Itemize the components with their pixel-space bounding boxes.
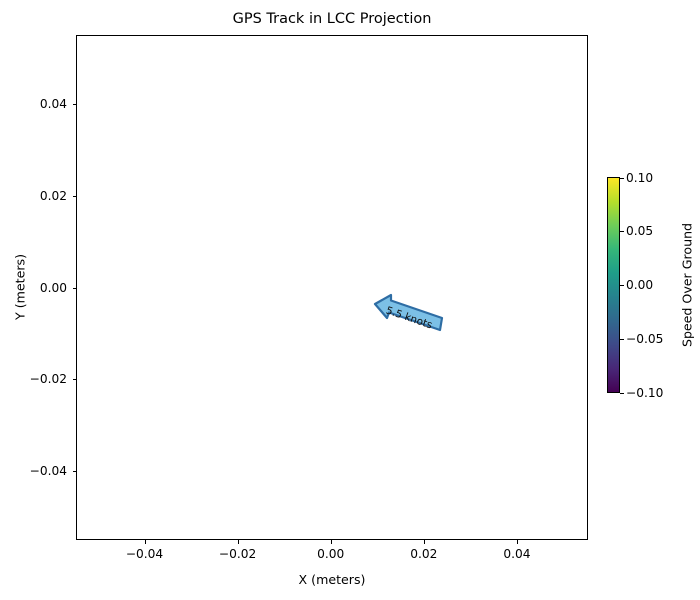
colorbar-tick-mark	[620, 285, 624, 286]
x-tick-mark	[238, 540, 239, 544]
chart-title: GPS Track in LCC Projection	[76, 11, 588, 27]
y-tick-label-text: 0.02	[40, 189, 67, 203]
y-tick-label-text: −0.02	[30, 372, 67, 386]
x-tick-label: 0.00	[317, 547, 344, 561]
x-axis-label: X (meters)	[76, 572, 588, 587]
colorbar-tick-mark	[620, 231, 624, 232]
colorbar-tick-label: −0.10	[626, 386, 663, 400]
colorbar-label: Speed Over Ground	[680, 223, 695, 347]
plot-axes-area[interactable]: 5.5 knots	[76, 35, 588, 540]
colorbar-tick-label: 0.00	[626, 278, 653, 292]
colorbar-tick-label: 0.05	[626, 224, 653, 238]
y-tick-label: 0.02	[67, 189, 94, 203]
x-tick-mark	[145, 540, 146, 544]
y-axis-label: Y (meters)	[13, 254, 28, 320]
y-tick-label: −0.02	[67, 372, 104, 386]
colorbar-tick-label: 0.10	[626, 171, 653, 185]
colorbar-tick-mark	[620, 393, 624, 394]
colorbar-gradient	[607, 177, 620, 393]
colorbar[interactable]	[607, 177, 620, 393]
colorbar-tick-label: −0.05	[626, 332, 663, 346]
arrow-shape-icon	[373, 294, 445, 340]
figure-canvas: GPS Track in LCC Projection 5.5 knots −0…	[0, 0, 700, 600]
y-tick-label: 0.04	[67, 97, 94, 111]
y-tick-label: −0.04	[67, 464, 104, 478]
y-tick-label-text: −0.04	[30, 464, 67, 478]
x-tick-mark	[517, 540, 518, 544]
x-tick-label: −0.04	[126, 547, 163, 561]
x-tick-label: 0.02	[410, 547, 437, 561]
x-tick-label: 0.04	[503, 547, 530, 561]
y-tick-label-text: 0.04	[40, 97, 67, 111]
y-tick-label-text: 0.00	[40, 281, 67, 295]
colorbar-tick-mark	[620, 339, 624, 340]
x-tick-mark	[331, 540, 332, 544]
colorbar-tick-mark	[620, 178, 624, 179]
x-tick-mark	[424, 540, 425, 544]
y-tick-label: 0.00	[67, 281, 94, 295]
speed-arrow-annotation[interactable]: 5.5 knots	[373, 294, 445, 340]
x-tick-label: −0.02	[219, 547, 256, 561]
